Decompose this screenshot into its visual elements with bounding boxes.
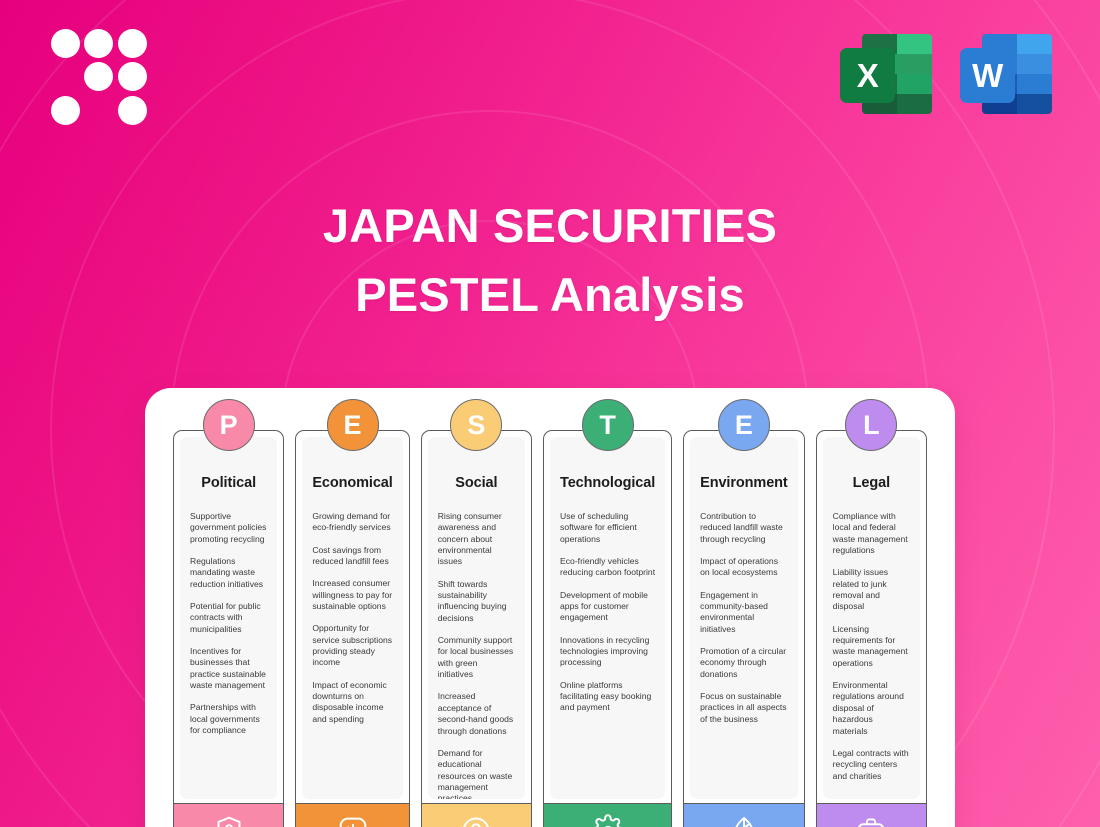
column-point: Eco-friendly vehicles reducing carbon fo… [560, 556, 655, 579]
column-point: Compliance with local and federal waste … [833, 511, 910, 556]
column-point-list: Use of scheduling software for efficient… [560, 511, 655, 725]
column-point: Increased acceptance of second-hand good… [438, 691, 515, 736]
person-circle-icon [422, 803, 531, 827]
title-line-1: JAPAN SECURITIES [0, 198, 1100, 253]
column-point-list: Compliance with local and federal waste … [833, 511, 910, 793]
column-point: Focus on sustainable practices in all as… [700, 691, 788, 725]
shield-person-icon [174, 803, 283, 827]
column-title: Economical [312, 475, 392, 491]
column-point: Rising consumer awareness and concern ab… [438, 511, 515, 568]
column-point: Incentives for businesses that practice … [190, 646, 267, 691]
column-point: Demand for educational resources on wast… [438, 748, 515, 799]
column-point: Development of mobile apps for customer … [560, 590, 655, 624]
word-letter: W [960, 48, 1015, 103]
column-point: Use of scheduling software for efficient… [560, 511, 655, 545]
column-letter-badge: E [718, 399, 770, 451]
column-point-list: Rising consumer awareness and concern ab… [438, 511, 515, 799]
leaf-icon [684, 803, 804, 827]
pestel-card: PPoliticalSupportive government policies… [145, 388, 955, 827]
column-point: Innovations in recycling technologies im… [560, 635, 655, 669]
column-point: Liability issues related to junk removal… [833, 567, 910, 612]
column-letter-badge: L [845, 399, 897, 451]
logo-dot [118, 62, 147, 91]
column-point: Partnerships with local governments for … [190, 702, 267, 736]
column-point: Contribution to reduced landfill waste t… [700, 511, 788, 545]
column-point: Online platforms facilitating easy booki… [560, 680, 655, 714]
logo-dot [51, 96, 80, 125]
column-letter-badge: E [327, 399, 379, 451]
page-title: JAPAN SECURITIES PESTEL Analysis [0, 198, 1100, 323]
logo-dot [51, 29, 80, 58]
column-point: Increased consumer willingness to pay fo… [312, 578, 392, 612]
column-point: Opportunity for service subscriptions pr… [312, 623, 392, 668]
column-point-list: Growing demand for eco-friendly services… [312, 511, 392, 736]
column-point: Promotion of a circular economy through … [700, 646, 788, 680]
column-letter-badge: T [582, 399, 634, 451]
pestel-column-social[interactable]: SSocialRising consumer awareness and con… [421, 430, 532, 827]
column-point: Impact of operations on local ecosystems [700, 556, 788, 579]
column-point: Potential for public contracts with muni… [190, 601, 267, 635]
logo-dot [84, 29, 113, 58]
poster-canvas: X W JAPAN SECURITIES PESTEL Analysis PPo… [0, 0, 1100, 827]
pestel-column-environment[interactable]: EEnvironmentContribution to reduced land… [683, 430, 805, 827]
column-point: Environmental regulations around disposa… [833, 680, 910, 737]
column-point: Regulations mandating waste reduction in… [190, 556, 267, 590]
pestel-columns: PPoliticalSupportive government policies… [173, 430, 927, 827]
column-title: Environment [700, 475, 788, 491]
column-letter-badge: S [450, 399, 502, 451]
word-icon[interactable]: W [960, 28, 1052, 120]
column-point: Cost savings from reduced landfill fees [312, 545, 392, 568]
bar-chart-icon [296, 803, 408, 827]
logo-dot [118, 29, 147, 58]
column-panel: PoliticalSupportive government policies … [180, 437, 277, 799]
title-line-2: PESTEL Analysis [0, 267, 1100, 322]
column-point: Community support for local businesses w… [438, 635, 515, 680]
column-letter-badge: P [203, 399, 255, 451]
brand-logo [50, 28, 148, 126]
column-panel: SocialRising consumer awareness and conc… [428, 437, 525, 799]
column-point-list: Supportive government policies promoting… [190, 511, 267, 748]
column-title: Technological [560, 475, 655, 491]
column-point: Growing demand for eco-friendly services [312, 511, 392, 534]
pestel-column-political[interactable]: PPoliticalSupportive government policies… [173, 430, 284, 827]
column-point: Legal contracts with recycling centers a… [833, 748, 910, 782]
office-app-icons: X W [840, 28, 1052, 120]
column-title: Social [438, 475, 515, 491]
pestel-column-legal[interactable]: LLegalCompliance with local and federal … [816, 430, 927, 827]
briefcase-icon [817, 803, 926, 827]
gear-icon [544, 803, 671, 827]
column-point: Engagement in community-based environmen… [700, 590, 788, 635]
pestel-column-technological[interactable]: TTechnologicalUse of scheduling software… [543, 430, 672, 827]
column-title: Political [190, 475, 267, 491]
column-title: Legal [833, 475, 910, 491]
logo-dot [118, 96, 147, 125]
column-panel: TechnologicalUse of scheduling software … [550, 437, 665, 799]
column-point-list: Contribution to reduced landfill waste t… [700, 511, 788, 736]
column-point: Impact of economic downturns on disposab… [312, 680, 392, 725]
logo-dot [84, 62, 113, 91]
excel-letter: X [840, 48, 895, 103]
column-point: Supportive government policies promoting… [190, 511, 267, 545]
column-panel: EnvironmentContribution to reduced landf… [690, 437, 798, 799]
column-panel: EconomicalGrowing demand for eco-friendl… [302, 437, 402, 799]
column-point: Licensing requirements for waste managem… [833, 624, 910, 669]
excel-icon[interactable]: X [840, 28, 932, 120]
logo-gap [84, 96, 113, 125]
pestel-column-economical[interactable]: EEconomicalGrowing demand for eco-friend… [295, 430, 409, 827]
logo-gap [51, 62, 80, 91]
column-point: Shift towards sustainability influencing… [438, 579, 515, 624]
column-panel: LegalCompliance with local and federal w… [823, 437, 920, 799]
